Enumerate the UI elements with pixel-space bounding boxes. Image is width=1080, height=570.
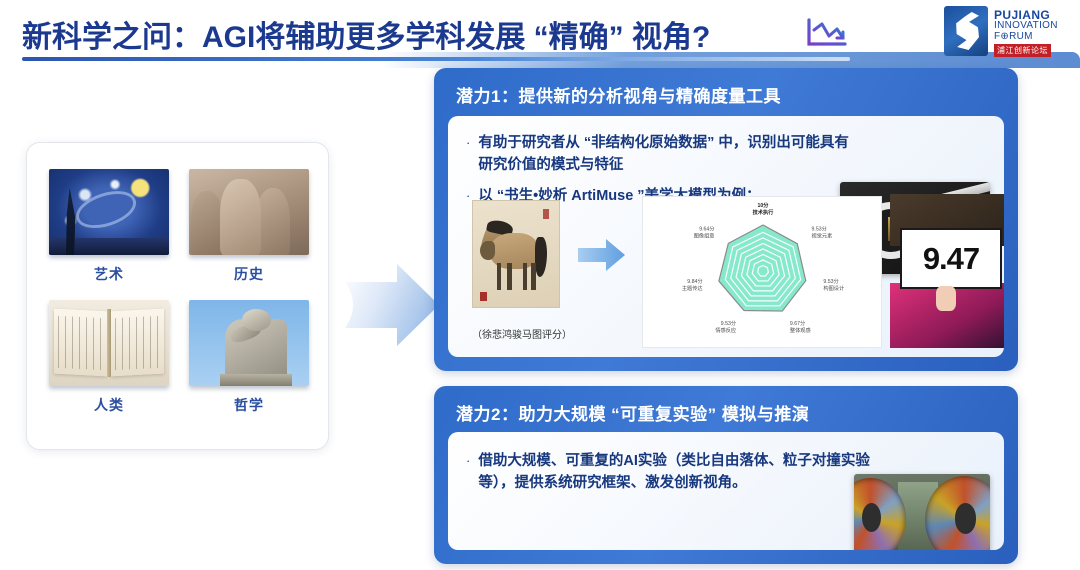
artwork-caption: （徐悲鸿骏马图评分） bbox=[472, 326, 564, 341]
disciplines-grid: 艺术 历史 人类 哲学 bbox=[45, 169, 313, 425]
panel-title: 潜力2：助力大规模 “可重复实验” 模拟与推演 bbox=[456, 400, 809, 425]
xu-beihong-horse-painting bbox=[472, 200, 560, 308]
page-title: 新科学之问：AGI将辅助更多学科发展 “精确” 视角? bbox=[22, 12, 710, 56]
radar-point-label: 图像组意 bbox=[694, 231, 715, 239]
radar-point-score: 9.84分 bbox=[687, 277, 702, 285]
radar-point-label: 整体观感 bbox=[790, 326, 811, 334]
score-card-photo: 9.47 bbox=[890, 194, 1004, 348]
potential-2-panel: 潜力2：助力大规模 “可重复实验” 模拟与推演 · 借助大规模、可重复的AI实验… bbox=[434, 386, 1018, 564]
radar-point-label: 主题传达 bbox=[682, 284, 703, 292]
discipline-label: 艺术 bbox=[45, 264, 173, 284]
bullet-item: · 借助大规模、可重复的AI实验（类比自由落体、粒子对撞实验等），提供系统研究框… bbox=[466, 450, 874, 494]
score-value: 9.47 bbox=[923, 241, 979, 277]
pujiang-innovation-forum-logo: PUJIANG INNOVATION F⊕RUM 浦江创新论坛 bbox=[944, 6, 1072, 60]
discipline-label: 哲学 bbox=[185, 395, 313, 415]
artimuse-radar-chart: 10分技术执行9.53分视觉元素9.53分构图设计9.67分整体观感9.53分情… bbox=[642, 196, 882, 348]
panel-1-content: · 有助于研究者从 “非结构化原始数据” 中，识别出可能具有研究价值的模式与特征… bbox=[448, 116, 1004, 357]
discipline-item-art[interactable]: 艺术 bbox=[45, 169, 173, 294]
radar-point-score: 9.67分 bbox=[790, 319, 805, 327]
demo-right-arrow-icon bbox=[578, 238, 626, 277]
terracotta-warriors-photo bbox=[189, 169, 309, 255]
radar-point-label: 视觉元素 bbox=[812, 231, 833, 239]
disciplines-card: 艺术 历史 人类 哲学 bbox=[26, 142, 329, 450]
pujiang-swan-logo-icon bbox=[944, 6, 988, 56]
radar-point-score: 9.64分 bbox=[699, 224, 714, 232]
discipline-item-history[interactable]: 历史 bbox=[185, 169, 313, 294]
title-underline bbox=[22, 57, 850, 61]
hand-icon bbox=[936, 286, 956, 311]
logo-line-forum: F⊕RUM bbox=[994, 32, 1058, 43]
particle-collider-detector-photo bbox=[854, 474, 990, 550]
thinker-statue-photo bbox=[189, 300, 309, 386]
flow-right-arrow-icon bbox=[345, 262, 440, 348]
discipline-label: 历史 bbox=[185, 264, 313, 284]
panel-2-content: · 借助大规模、可重复的AI实验（类比自由落体、粒子对撞实验等），提供系统研究框… bbox=[448, 432, 1004, 550]
discipline-item-humanities[interactable]: 人类 bbox=[45, 300, 173, 425]
artimuse-demo: （徐悲鸿骏马图评分） 10分技术执行9 bbox=[466, 200, 1004, 348]
radar-point-score: 9.53分 bbox=[812, 224, 827, 232]
radar-point-label: 情感反应 bbox=[715, 326, 736, 334]
discipline-label: 人类 bbox=[45, 395, 173, 415]
radar-svg: 10分技术执行9.53分视觉元素9.53分构图设计9.67分整体观感9.53分情… bbox=[643, 197, 883, 349]
bullet-dot-icon: · bbox=[466, 132, 470, 176]
bullet-text: 借助大规模、可重复的AI实验（类比自由落体、粒子对撞实验等），提供系统研究框架、… bbox=[478, 450, 874, 494]
radar-point-label: 构图设计 bbox=[823, 284, 844, 292]
bullet-text: 有助于研究者从 “非结构化原始数据” 中，识别出可能具有研究价值的模式与特征 bbox=[478, 132, 858, 176]
bullet-item: · 有助于研究者从 “非结构化原始数据” 中，识别出可能具有研究价值的模式与特征 bbox=[466, 132, 858, 176]
discipline-item-philosophy[interactable]: 哲学 bbox=[185, 300, 313, 425]
radar-point-score: 9.53分 bbox=[823, 277, 838, 285]
starry-night-painting bbox=[49, 169, 169, 255]
radar-point-label: 技术执行 bbox=[753, 208, 775, 216]
slide-header: 新科学之问：AGI将辅助更多学科发展 “精确” 视角? bbox=[0, 0, 1080, 66]
logo-line-chinese: 浦江创新论坛 bbox=[994, 44, 1051, 57]
bullet-dot-icon: · bbox=[466, 450, 470, 494]
potential-1-panel: 潜力1：提供新的分析视角与精确度量工具 · 有助于研究者从 “非结构化原始数据”… bbox=[434, 68, 1018, 371]
panel-title: 潜力1：提供新的分析视角与精确度量工具 bbox=[456, 82, 781, 107]
ancient-book-photo bbox=[49, 300, 169, 386]
radar-point-score: 9.53分 bbox=[721, 319, 736, 327]
panel-2-bullets: · 借助大规模、可重复的AI实验（类比自由落体、粒子对撞实验等），提供系统研究框… bbox=[466, 450, 874, 503]
artwork-block: （徐悲鸿骏马图评分） bbox=[472, 200, 564, 341]
score-plate: 9.47 bbox=[900, 228, 1002, 290]
line-chart-icon bbox=[806, 18, 848, 53]
radar-point-score: 10分 bbox=[758, 201, 770, 209]
logo-text-block: PUJIANG INNOVATION F⊕RUM 浦江创新论坛 bbox=[994, 6, 1058, 60]
